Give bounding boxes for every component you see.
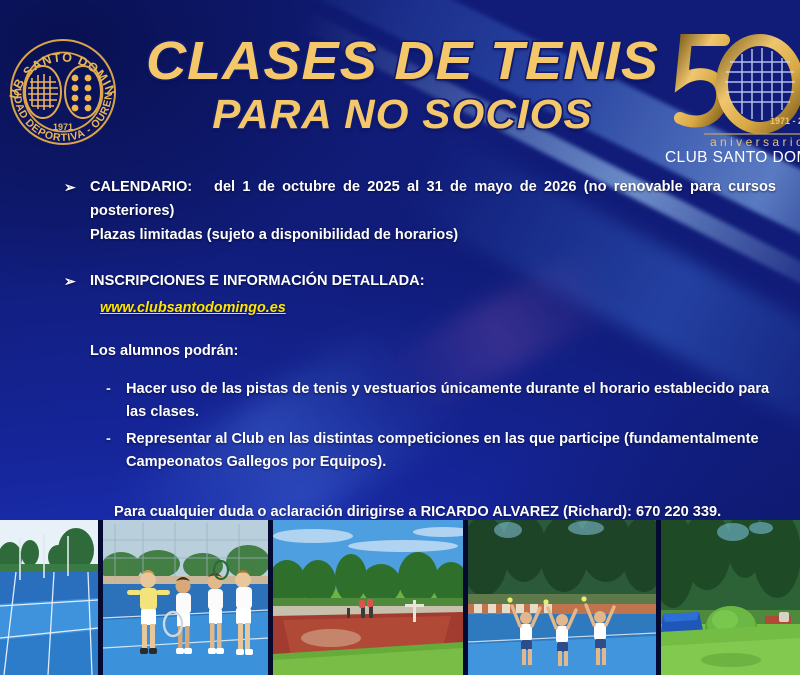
poster-body: ➢ CALENDARIO: del 1 de octubre de 2025 a… — [64, 176, 776, 525]
svg-text:1971 - 2021: 1971 - 2021 — [770, 116, 800, 126]
svg-text:1971: 1971 — [53, 122, 73, 132]
dash-bullet-icon: - — [106, 378, 126, 402]
list-item-text: Hacer uso de las pistas de tenis y vestu… — [126, 378, 776, 425]
calendar-text: del 1 de octubre de 2025 al 31 de mayo d… — [90, 179, 776, 219]
photo-players-serving — [468, 520, 656, 675]
inscriptions-section: ➢ INSCRIPCIONES E INFORMACIÓN DETALLADA:… — [64, 270, 776, 320]
svg-text:aniversario: aniversario — [710, 135, 800, 149]
students-heading: Los alumnos podrán: — [90, 340, 776, 364]
title-line-2: PARA NO SOCIOS — [122, 94, 683, 135]
calendar-note: Plazas limitadas (sujeto a disponibilida… — [90, 224, 776, 248]
title-line-1: CLASES DE TENIS — [122, 34, 683, 88]
dash-bullet-icon: - — [106, 428, 126, 452]
photo-strip — [0, 520, 800, 675]
students-list: - Hacer uso de las pistas de tenis y ves… — [106, 378, 776, 476]
list-item-text: Representar al Club en las distintas com… — [126, 428, 776, 475]
photo-red-track-and-lawn — [273, 520, 463, 675]
arrow-bullet-icon: ➢ — [64, 176, 90, 199]
calendar-label: CALENDARIO: — [90, 179, 192, 195]
photo-trimmed-bush-garden — [661, 520, 800, 675]
svg-text:CLUB SANTO DOMINGO: CLUB SANTO DOMINGO — [665, 149, 800, 166]
arrow-bullet-icon: ➢ — [64, 270, 90, 293]
website-link[interactable]: www.clubsantodomingo.es — [100, 297, 776, 320]
photo-empty-tennis-courts — [0, 520, 98, 675]
inscriptions-label: INSCRIPCIONES E INFORMACIÓN DETALLADA: — [90, 270, 776, 294]
list-item: - Hacer uso de las pistas de tenis y ves… — [106, 378, 776, 425]
poster-title: CLASES DE TENIS PARA NO SOCIOS — [130, 34, 675, 135]
poster-canvas: CLUB SANTO DOMINGO CIUDAD DEPORTIVA - OU… — [0, 0, 800, 675]
club-logo-icon: CLUB SANTO DOMINGO CIUDAD DEPORTIVA - OU… — [2, 26, 124, 152]
calendar-line: CALENDARIO: del 1 de octubre de 2025 al … — [90, 176, 776, 223]
calendar-section: ➢ CALENDARIO: del 1 de octubre de 2025 a… — [64, 176, 776, 248]
photo-children-with-rackets — [103, 520, 268, 675]
list-item: - Representar al Club en las distintas c… — [106, 428, 776, 475]
